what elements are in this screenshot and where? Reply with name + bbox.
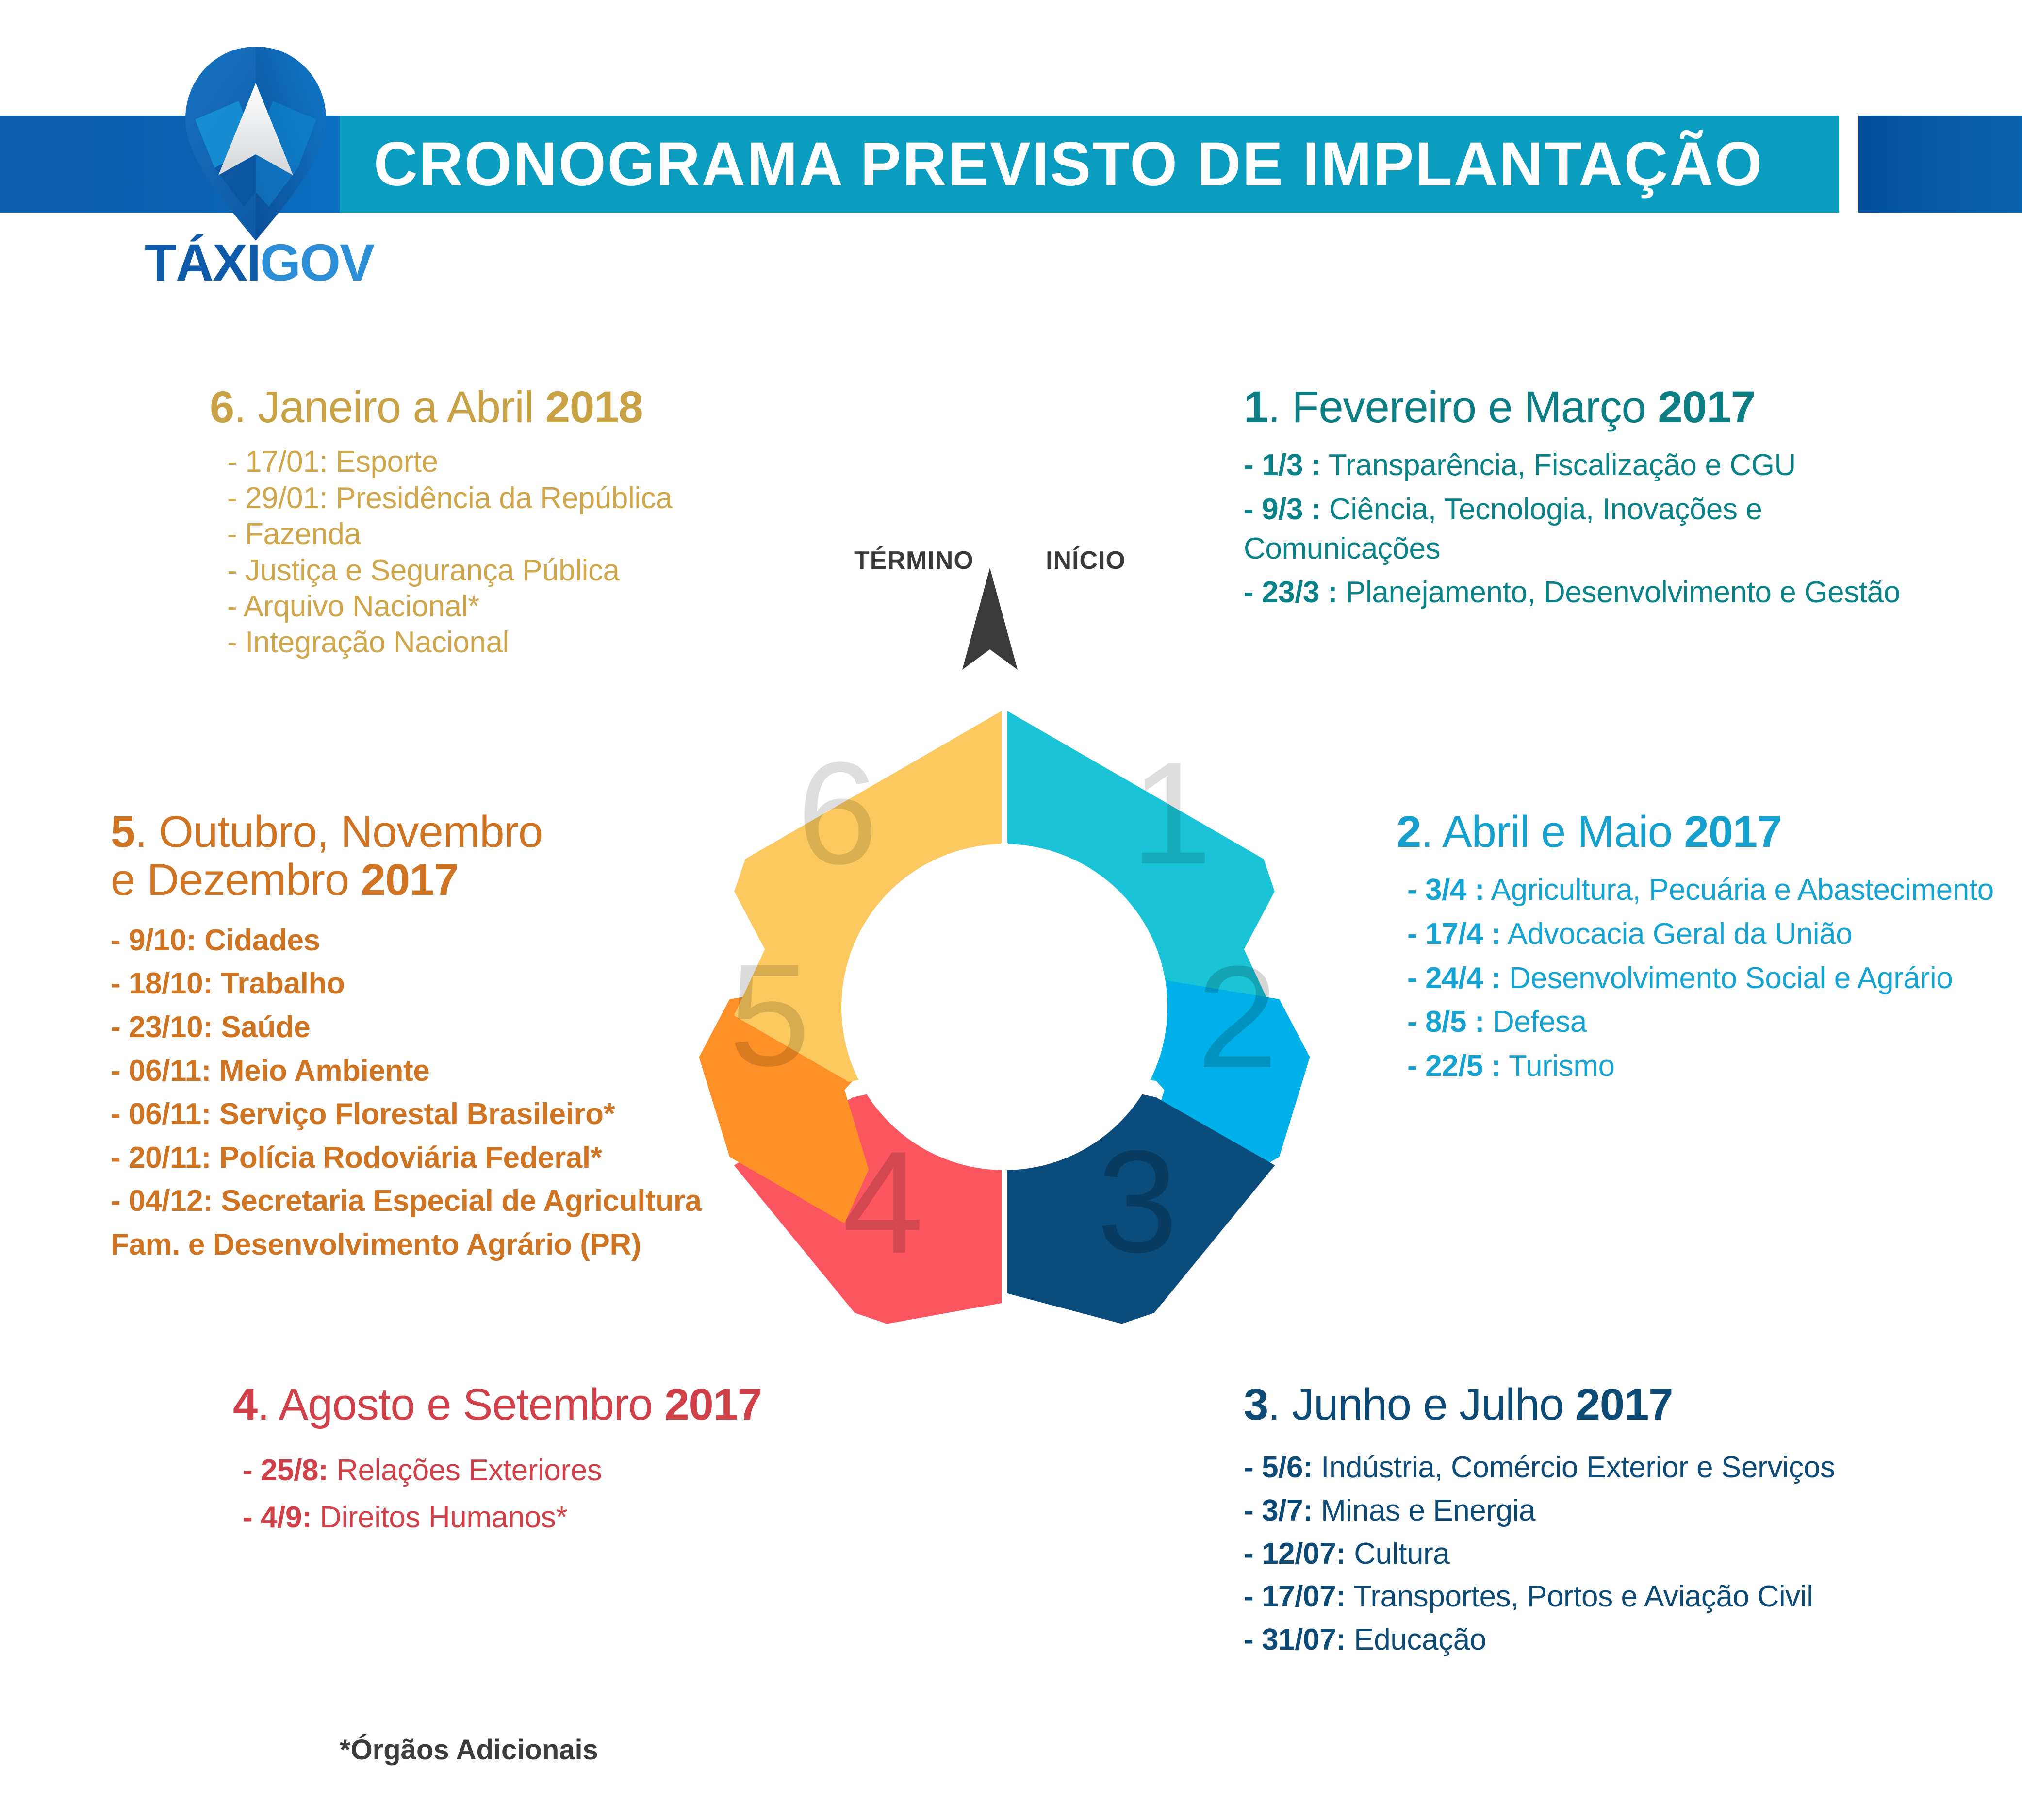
section-5-year: 2017 (361, 855, 459, 905)
brand-secondary: GOV (260, 233, 374, 292)
item-date: - 31/07: (1244, 1623, 1346, 1656)
section-4-agosto-setembro-2017: 4. Agosto e Setembro 2017 - 25/8: Relaçõ… (233, 1381, 961, 1545)
item-date: - Fazenda (227, 517, 361, 551)
section-6-year: 2018 (545, 382, 643, 432)
list-item: - 25/8: Relações Exteriores (243, 1451, 961, 1490)
item-date: - 3/7: (1244, 1494, 1313, 1527)
item-text: Transportes, Portos e Aviação Civil (1346, 1580, 1813, 1613)
donut-label-4: 4 (843, 1121, 924, 1284)
item-text: Advocacia Geral da União (1501, 917, 1852, 951)
section-6-number: 6 (210, 382, 234, 432)
list-item: - 06/11: Serviço Florestal Brasileiro* (111, 1095, 756, 1134)
item-text: Turismo (1501, 1049, 1615, 1083)
list-item: - 24/4 : Desenvolvimento Social e Agrári… (1407, 959, 2008, 998)
item-date: - Arquivo Nacional* (227, 590, 479, 623)
item-date: - 29/01: (227, 481, 328, 515)
section-6-list: - 17/01: Esporte - 29/01: Presidência da… (210, 444, 899, 661)
section-5-period-line2: e Dezembro (111, 855, 361, 905)
item-text: Indústria, Comércio Exterior e Serviços (1313, 1451, 1835, 1484)
section-2-year: 2017 (1684, 807, 1782, 857)
item-text: Relações Exteriores (328, 1454, 602, 1487)
section-1-period: . Fevereiro e Março (1268, 382, 1658, 432)
list-item: - 9/3 : Ciência, Tecnologia, Inovações e… (1244, 490, 1938, 568)
section-1-list: - 1/3 : Transparência, Fiscalização e CG… (1244, 446, 1938, 612)
list-item: - 29/01: Presidência da República (227, 480, 899, 516)
section-3-heading: 3. Junho e Julho 2017 (1244, 1381, 1938, 1429)
list-item: - 04/12: Secretaria Especial de Agricult… (111, 1182, 756, 1221)
section-4-year: 2017 (664, 1380, 762, 1429)
section-1-heading: 1. Fevereiro e Março 2017 (1244, 383, 1938, 431)
section-5-period-line1: . Outubro, Novembro (135, 807, 542, 857)
section-6-janeiro-abril-2018: 6. Janeiro a Abril 2018 - 17/01: Esporte… (210, 383, 899, 661)
header-band-right (1858, 116, 2022, 213)
item-text: Cidades (196, 924, 320, 957)
list-item: - 31/07: Educação (1244, 1621, 1938, 1660)
list-item: - 18/10: Trabalho (111, 964, 756, 1004)
section-3-year: 2017 (1576, 1380, 1673, 1429)
list-item: - 23/10: Saúde (111, 1008, 756, 1047)
item-date: - 23/10: (111, 1010, 213, 1044)
item-text: Trabalho (213, 967, 345, 1000)
item-text: Cultura (1346, 1537, 1449, 1571)
page-header: CRONOGRAMA PREVISTO DE IMPLANTAÇÃO TÁXIG… (0, 0, 2022, 311)
list-item: - 17/01: Esporte (227, 444, 899, 480)
section-5-list: - 9/10: Cidades - 18/10: Trabalho - 23/1… (111, 921, 756, 1265)
brand-primary: TÁXI (145, 233, 260, 292)
section-2-number: 2 (1397, 807, 1421, 857)
item-text: Saúde (213, 1010, 310, 1044)
item-date: - 24/4 : (1407, 961, 1501, 995)
section-3-number: 3 (1244, 1380, 1268, 1429)
list-item: - Arquivo Nacional* (227, 589, 899, 625)
item-text: Desenvolvimento Social e Agrário (1501, 961, 1953, 995)
item-text: Serviço Florestal Brasileiro* (211, 1097, 615, 1131)
donut-label-5: 5 (729, 933, 810, 1096)
section-5-heading: 5. Outubro, Novembroe Dezembro 2017 (111, 808, 756, 905)
item-date: - 25/8: (243, 1454, 328, 1487)
item-text: Meio Ambiente (211, 1054, 429, 1088)
item-date: - 06/11: (111, 1097, 211, 1131)
item-text: Transparência, Fiscalização e CGU (1321, 448, 1796, 482)
item-date: - 23/3 : (1244, 576, 1337, 609)
list-item: - 3/7: Minas e Energia (1244, 1491, 1938, 1531)
list-item: - 1/3 : Transparência, Fiscalização e CG… (1244, 446, 1938, 485)
item-date: - 9/3 : (1244, 493, 1321, 526)
item-text: Direitos Humanos* (312, 1501, 567, 1534)
item-date: - 17/4 : (1407, 917, 1501, 951)
section-6-period: . Janeiro a Abril (234, 382, 545, 432)
section-5-number: 5 (111, 807, 135, 857)
page-title: CRONOGRAMA PREVISTO DE IMPLANTAÇÃO (374, 120, 1800, 208)
section-2-list: - 3/4 : Agricultura, Pecuária e Abasteci… (1397, 871, 2008, 1086)
list-item: - Justiça e Segurança Pública (227, 553, 899, 589)
item-date: - 22/5 : (1407, 1049, 1501, 1083)
section-4-period: . Agosto e Setembro (257, 1380, 664, 1429)
list-item: - Integração Nacional (227, 625, 899, 661)
section-5-outubro-dezembro-2017: 5. Outubro, Novembroe Dezembro 2017 - 9/… (111, 808, 756, 1269)
footnote-orgaos-adicionais: *Órgãos Adicionais (340, 1734, 598, 1766)
item-date: - 4/9: (243, 1501, 312, 1534)
item-date: - 06/11: (111, 1054, 211, 1088)
item-date: - Integração Nacional (227, 626, 509, 659)
section-4-heading: 4. Agosto e Setembro 2017 (233, 1381, 961, 1429)
list-item: - Fazenda (227, 516, 899, 552)
item-text: Ciência, Tecnologia, Inovações e Comunic… (1244, 493, 1762, 565)
section-3-period: . Junho e Julho (1268, 1380, 1576, 1429)
list-item: - 20/11: Polícia Rodoviária Federal* (111, 1139, 756, 1178)
list-item: - 3/4 : Agricultura, Pecuária e Abasteci… (1407, 871, 2008, 910)
item-date: - 20/11: (111, 1141, 211, 1175)
item-date: - Justiça e Segurança Pública (227, 554, 620, 587)
item-date: - 17/07: (1244, 1580, 1346, 1613)
item-date: - 8/5 : (1407, 1005, 1484, 1039)
section-6-heading: 6. Janeiro a Abril 2018 (210, 383, 899, 431)
list-item: - 17/4 : Advocacia Geral da União (1407, 915, 2008, 954)
section-3-list: - 5/6: Indústria, Comércio Exterior e Se… (1244, 1448, 1938, 1659)
item-date: - 9/10: (111, 924, 196, 957)
section-4-list: - 25/8: Relações Exteriores - 4/9: Direi… (233, 1451, 961, 1537)
item-date: - 5/6: (1244, 1451, 1313, 1484)
item-text: Agricultura, Pecuária e Abastecimento (1484, 873, 1994, 907)
donut-label-6: 6 (797, 731, 878, 894)
item-text: Planejamento, Desenvolvimento e Gestão (1337, 576, 1900, 609)
item-text: Minas e Energia (1313, 1494, 1535, 1527)
section-1-number: 1 (1244, 382, 1268, 432)
item-text: Educação (1346, 1623, 1486, 1656)
item-text: Presidência da República (328, 481, 672, 515)
brand-wordmark: TÁXIGOV (145, 232, 374, 293)
section-1-fevereiro-marco-2017: 1. Fevereiro e Março 2017 - 1/3 : Transp… (1244, 383, 1938, 617)
taxigov-pin-logo-icon (185, 47, 326, 241)
item-date: - 17/01: (227, 445, 328, 479)
list-item: - 23/3 : Planejamento, Desenvolvimento e… (1244, 573, 1938, 612)
cycle-direction-arrow-icon (958, 568, 1021, 670)
item-date: - 3/4 : (1407, 873, 1484, 907)
donut-label-1: 1 (1131, 731, 1212, 894)
item-text: Secretaria Especial de Agricultura (213, 1184, 701, 1218)
list-item: - 8/5 : Defesa (1407, 1003, 2008, 1042)
donut-label-2: 2 (1197, 935, 1278, 1098)
section-2-abril-maio-2017: 2. Abril e Maio 2017 - 3/4 : Agricultura… (1397, 808, 2008, 1091)
section-4-number: 4 (233, 1380, 257, 1429)
list-item: - 5/6: Indústria, Comércio Exterior e Se… (1244, 1448, 1938, 1488)
section-2-period: . Abril e Maio (1421, 807, 1684, 857)
section-2-heading: 2. Abril e Maio 2017 (1397, 808, 2008, 856)
list-item-continuation: Fam. e Desenvolvimento Agrário (PR) (111, 1225, 756, 1265)
list-item: - 9/10: Cidades (111, 921, 756, 960)
cycle-start-label: INÍCIO (1046, 546, 1126, 575)
cycle-donut-chart: 1 2 3 4 5 6 (694, 677, 1315, 1337)
donut-label-3: 3 (1097, 1120, 1178, 1283)
item-date: - 12/07: (1244, 1537, 1346, 1571)
section-3-junho-julho-2017: 3. Junho e Julho 2017 - 5/6: Indústria, … (1244, 1381, 1938, 1663)
item-text: Defesa (1484, 1005, 1587, 1039)
list-item: - 17/07: Transportes, Portos e Aviação C… (1244, 1577, 1938, 1617)
list-item: - 22/5 : Turismo (1407, 1047, 2008, 1086)
item-date: - 1/3 : (1244, 448, 1321, 482)
list-item: - 06/11: Meio Ambiente (111, 1052, 756, 1091)
section-1-year: 2017 (1658, 382, 1755, 432)
cycle-end-label: TÉRMINO (854, 546, 974, 575)
item-text: Polícia Rodoviária Federal* (211, 1141, 602, 1175)
item-date: - 04/12: (111, 1184, 213, 1218)
item-text: Esporte (328, 445, 438, 479)
item-date: - 18/10: (111, 967, 213, 1000)
list-item: - 4/9: Direitos Humanos* (243, 1498, 961, 1538)
list-item: - 12/07: Cultura (1244, 1535, 1938, 1574)
